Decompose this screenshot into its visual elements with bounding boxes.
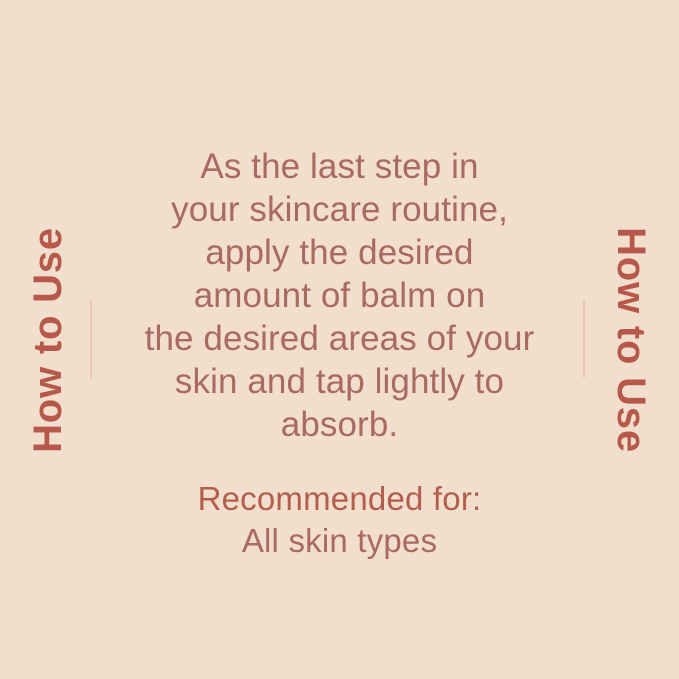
recommendation-heading: Recommended for: bbox=[100, 478, 579, 520]
how-to-use-card: How to Use How to Use As the last step i… bbox=[0, 0, 679, 679]
instruction-line: absorb. bbox=[100, 403, 579, 446]
instruction-line: apply the desired bbox=[100, 231, 579, 274]
recommendation-value: All skin types bbox=[100, 520, 579, 562]
side-label-left-text: How to Use bbox=[28, 227, 68, 453]
side-label-right: How to Use bbox=[583, 0, 679, 679]
instruction-line: skin and tap lightly to bbox=[100, 360, 579, 403]
instruction-paragraph: As the last step in your skincare routin… bbox=[100, 145, 579, 446]
side-label-left: How to Use bbox=[0, 0, 96, 679]
recommendation-block: Recommended for: All skin types bbox=[100, 478, 579, 562]
instruction-line: amount of balm on bbox=[100, 274, 579, 317]
instruction-line: As the last step in bbox=[100, 145, 579, 188]
content-column: As the last step in your skincare routin… bbox=[100, 0, 579, 679]
side-label-right-text: How to Use bbox=[611, 227, 651, 453]
divider-rule-left bbox=[90, 300, 92, 378]
instruction-line: your skincare routine, bbox=[100, 188, 579, 231]
divider-rule-right bbox=[583, 300, 585, 378]
instruction-line: the desired areas of your bbox=[100, 317, 579, 360]
